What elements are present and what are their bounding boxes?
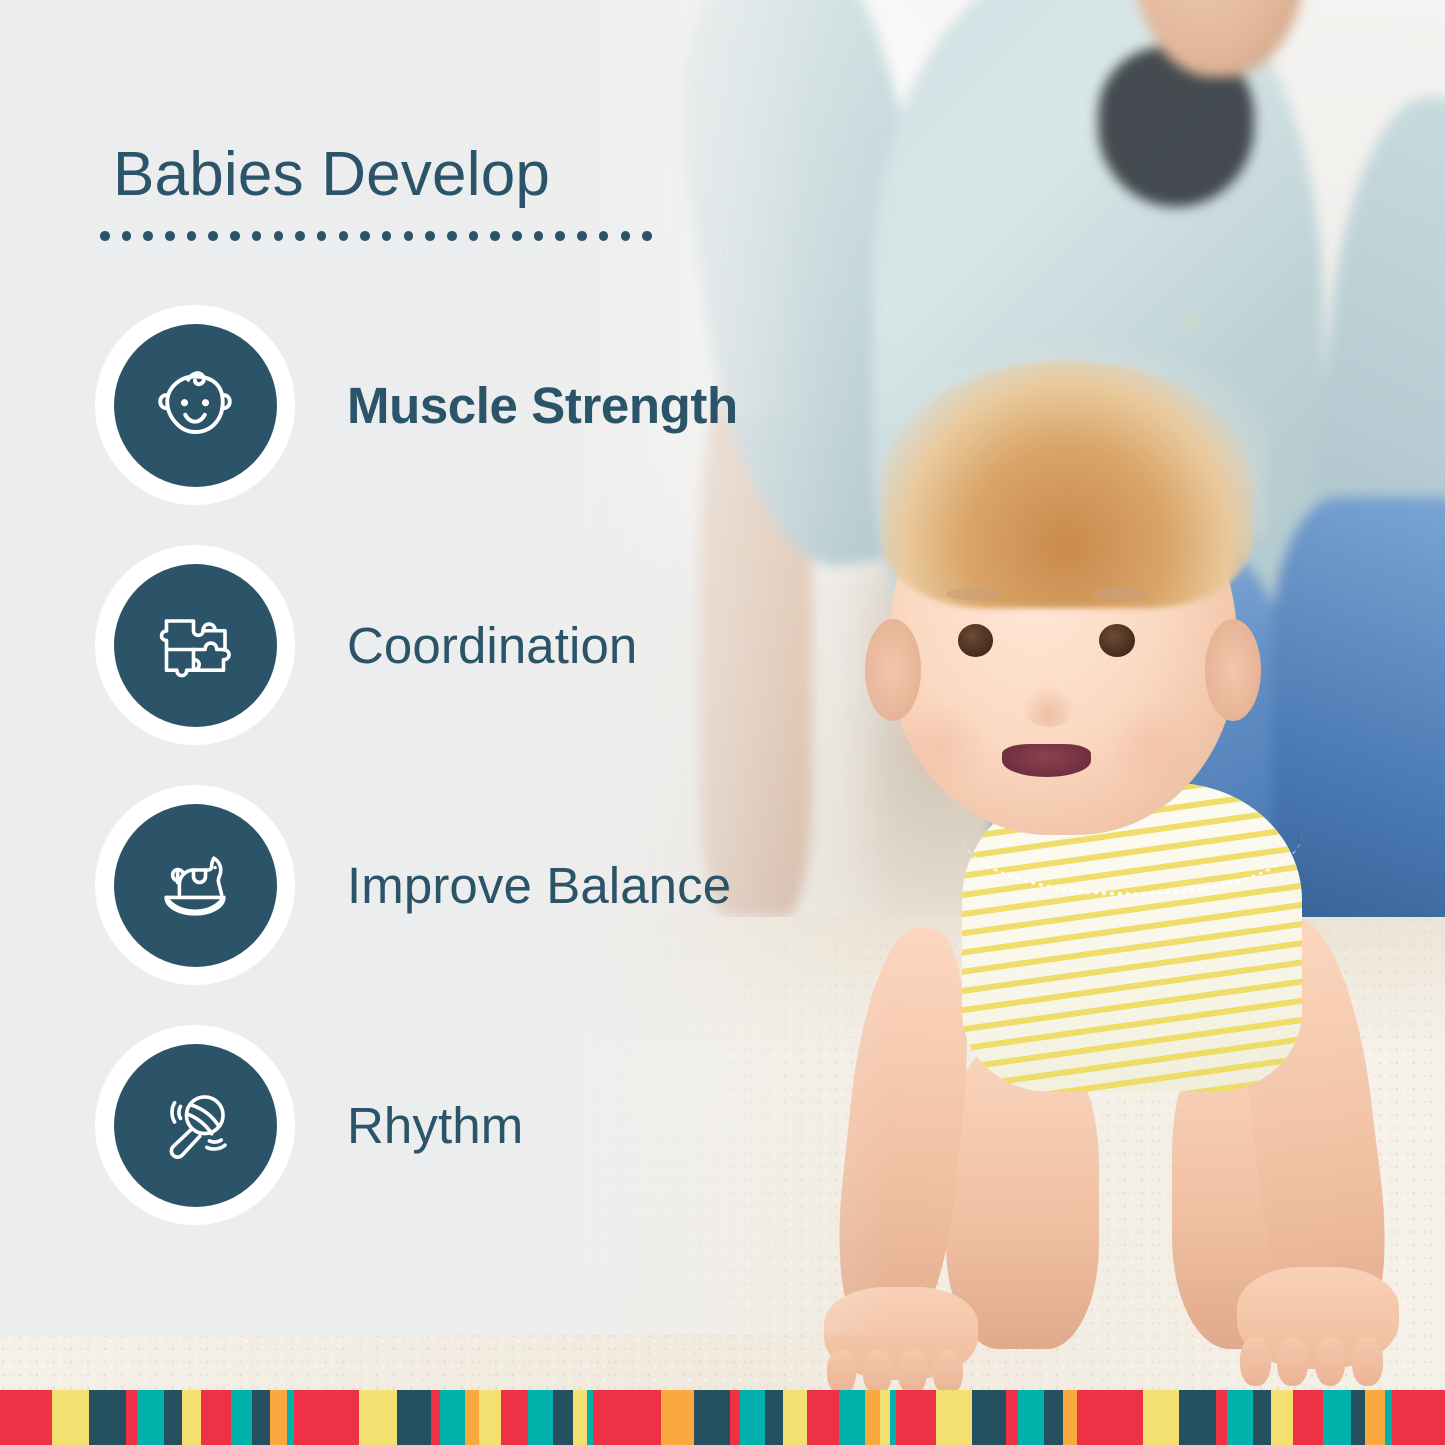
content-layer: Babies Develop — [0, 0, 1445, 1445]
divider-dot — [339, 231, 349, 241]
stripe-segment — [936, 1390, 972, 1445]
puzzle-icon — [147, 597, 243, 693]
divider-dot — [642, 231, 652, 241]
stripe-segment — [553, 1390, 573, 1445]
stripe-segment — [359, 1390, 397, 1445]
stripe-segment — [839, 1390, 865, 1445]
divider-dot — [122, 231, 132, 241]
badge-circle — [114, 324, 277, 487]
stripe-segment — [182, 1390, 201, 1445]
stripe-segment — [783, 1390, 807, 1445]
stripe-segment — [270, 1390, 287, 1445]
divider-dot — [208, 231, 218, 241]
divider-dot — [143, 231, 153, 241]
stripe-segment — [896, 1390, 936, 1445]
stripe-segment — [1253, 1390, 1271, 1445]
stripe-segment — [479, 1390, 501, 1445]
stripe-segment — [89, 1390, 125, 1445]
stripe-segment — [1271, 1390, 1293, 1445]
stripe-segment — [694, 1390, 730, 1445]
divider-dot — [534, 231, 544, 241]
divider-dot — [425, 231, 435, 241]
stripe-segment — [287, 1390, 294, 1445]
divider-dot — [274, 231, 284, 241]
divider-dot — [490, 231, 500, 241]
stripe-segment — [661, 1390, 694, 1445]
stripe-segment — [501, 1390, 528, 1445]
stripe-segment — [252, 1390, 270, 1445]
divider-dot — [382, 231, 392, 241]
divider-dot — [295, 231, 305, 241]
stripe-segment — [972, 1390, 1005, 1445]
divider-dot — [621, 231, 631, 241]
stripe-segment — [1143, 1390, 1179, 1445]
stripe-segment — [1063, 1390, 1077, 1445]
stripe-segment — [397, 1390, 431, 1445]
stripe-segment — [1227, 1390, 1253, 1445]
stripe-segment — [126, 1390, 137, 1445]
baby-rattle-icon — [147, 1077, 243, 1173]
stripe-segment — [431, 1390, 440, 1445]
badge-circle — [114, 1044, 277, 1207]
divider-dot — [230, 231, 240, 241]
page-title: Babies Develop — [113, 139, 550, 210]
benefit-icon-badge — [95, 1025, 295, 1225]
stripe-segment — [294, 1390, 358, 1445]
benefits-list: Muscle Strength — [95, 305, 738, 1265]
stripe-segment — [0, 1390, 52, 1445]
divider-dot — [577, 231, 587, 241]
benefit-item-coordination[interactable]: Coordination — [95, 545, 738, 745]
stripe-segment — [164, 1390, 182, 1445]
stripe-segment — [137, 1390, 164, 1445]
stripe-segment — [730, 1390, 740, 1445]
divider-dot — [317, 231, 327, 241]
benefit-label: Rhythm — [347, 1096, 523, 1155]
badge-circle — [114, 564, 277, 727]
divider-dot — [100, 231, 110, 241]
stripe-segment — [807, 1390, 839, 1445]
infographic-poster: Babies Develop — [0, 0, 1445, 1445]
bottom-color-stripe — [0, 1390, 1445, 1445]
stripe-segment — [1392, 1390, 1444, 1445]
divider-dot — [447, 231, 457, 241]
stripe-segment — [1351, 1390, 1365, 1445]
stripe-segment — [593, 1390, 661, 1445]
stripe-segment — [1293, 1390, 1323, 1445]
stripe-segment — [1323, 1390, 1351, 1445]
divider-dot — [555, 231, 565, 241]
benefit-icon-badge — [95, 305, 295, 505]
title-dotted-divider — [100, 231, 652, 241]
stripe-segment — [865, 1390, 880, 1445]
benefit-label: Muscle Strength — [347, 376, 738, 435]
divider-dot — [512, 231, 522, 241]
divider-dot — [469, 231, 479, 241]
stripe-segment — [740, 1390, 765, 1445]
stripe-segment — [1385, 1390, 1392, 1445]
divider-dot — [252, 231, 262, 241]
stripe-segment — [1216, 1390, 1227, 1445]
stripe-segment — [573, 1390, 587, 1445]
benefit-label: Coordination — [347, 616, 637, 675]
stripe-segment — [1179, 1390, 1215, 1445]
benefit-item-improve-balance[interactable]: Improve Balance — [95, 785, 738, 985]
stripe-segment — [52, 1390, 89, 1445]
divider-dot — [165, 231, 175, 241]
divider-dot — [360, 231, 370, 241]
divider-dot — [404, 231, 414, 241]
divider-dot — [599, 231, 609, 241]
divider-dot — [187, 231, 197, 241]
stripe-segment — [880, 1390, 890, 1445]
stripe-segment — [765, 1390, 782, 1445]
stripe-segment — [440, 1390, 465, 1445]
rocking-horse-icon — [147, 837, 243, 933]
benefit-icon-badge — [95, 785, 295, 985]
stripe-segment — [1044, 1390, 1063, 1445]
benefit-item-rhythm[interactable]: Rhythm — [95, 1025, 738, 1225]
stripe-segment — [1077, 1390, 1143, 1445]
benefit-label: Improve Balance — [347, 856, 731, 915]
benefit-item-muscle-strength[interactable]: Muscle Strength — [95, 305, 738, 505]
stripe-segment — [528, 1390, 552, 1445]
stripe-segment — [1006, 1390, 1018, 1445]
stripe-segment — [201, 1390, 231, 1445]
stripe-segment — [231, 1390, 252, 1445]
stripe-segment — [1365, 1390, 1385, 1445]
stripe-segment — [1018, 1390, 1044, 1445]
stripe-segment — [465, 1390, 479, 1445]
baby-face-icon — [147, 357, 243, 453]
benefit-icon-badge — [95, 545, 295, 745]
badge-circle — [114, 804, 277, 967]
